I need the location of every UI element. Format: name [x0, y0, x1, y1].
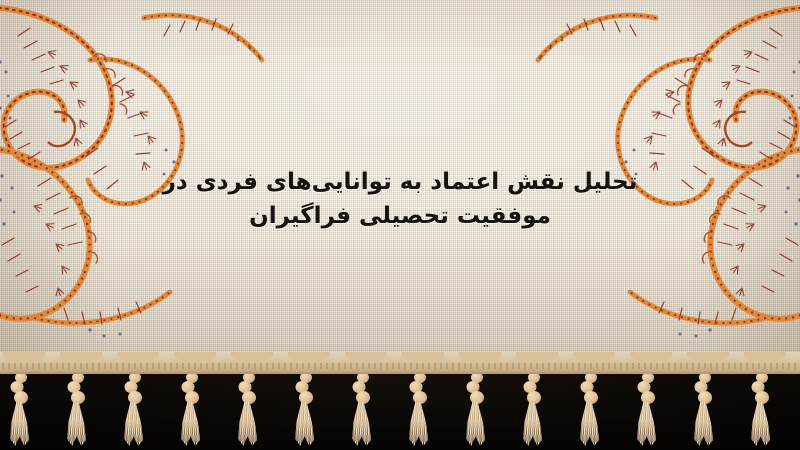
- tassel: [291, 362, 317, 448]
- slide-canvas: تحلیل نقش اعتماد به توانایی‌های فردی در …: [0, 0, 800, 450]
- tassel: [177, 362, 203, 448]
- slide-title: تحلیل نقش اعتماد به توانایی‌های فردی در …: [0, 165, 800, 233]
- tassel: [63, 362, 89, 448]
- hem-stitching: [0, 363, 796, 369]
- tassel: [747, 362, 773, 448]
- tassel: [120, 362, 146, 448]
- cloth-hem: [0, 352, 800, 374]
- title-line-2: موفقیت تحصیلی فراگیران: [0, 199, 800, 233]
- tassel: [6, 362, 32, 448]
- tassel: [462, 362, 488, 448]
- tassel: [576, 362, 602, 448]
- tassel: [690, 362, 716, 448]
- tassel: [519, 362, 545, 448]
- tassel: [633, 362, 659, 448]
- title-line-1: تحلیل نقش اعتماد به توانایی‌های فردی در: [0, 165, 800, 199]
- tassel-fringe: [0, 362, 800, 450]
- tassel: [405, 362, 431, 448]
- tassel: [348, 362, 374, 448]
- tassel: [234, 362, 260, 448]
